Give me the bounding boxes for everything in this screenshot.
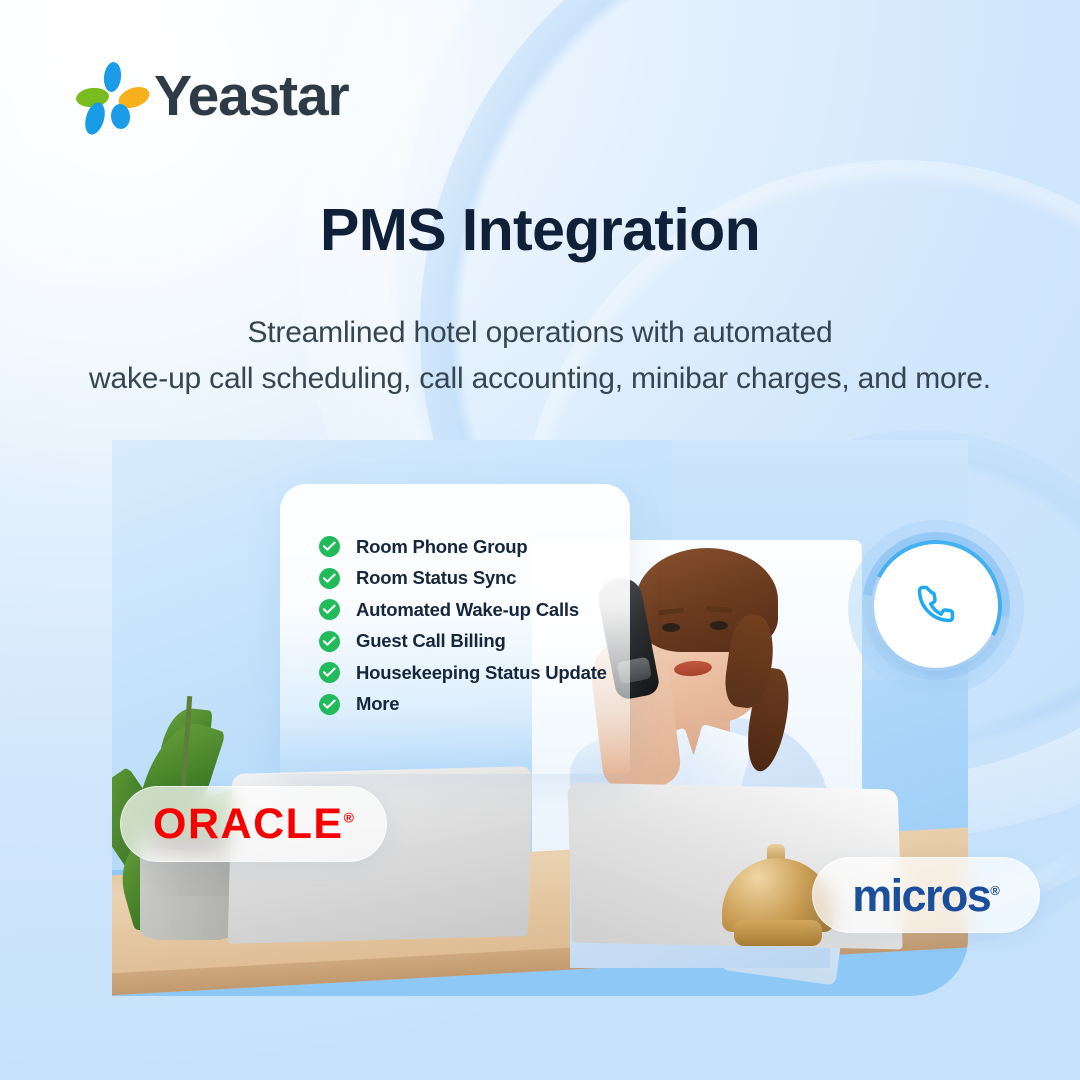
micros-logo-text: micros® — [852, 873, 1000, 918]
oracle-logo-text: ORACLE® — [153, 803, 354, 846]
phone-feature-badge — [848, 520, 1024, 696]
check-circle-icon — [319, 694, 340, 715]
page-title: PMS Integration — [0, 196, 1080, 264]
feature-list-card: Room Phone Group Room Status Sync Automa… — [280, 484, 630, 774]
promo-banner: Yeastar PMS Integration Streamlined hote… — [0, 0, 1080, 1080]
brand-wordmark: Yeastar — [154, 68, 348, 125]
list-item: Guest Call Billing — [319, 626, 618, 658]
feature-label: Guest Call Billing — [356, 630, 506, 652]
feature-label: Room Phone Group — [356, 536, 528, 558]
list-item: Automated Wake-up Calls — [319, 594, 618, 626]
person-eye-right — [710, 621, 728, 630]
check-circle-icon — [319, 568, 340, 589]
feature-label: Room Status Sync — [356, 567, 516, 589]
check-circle-icon — [319, 536, 340, 557]
person-eye-left — [662, 623, 680, 632]
subtitle-line-2: wake-up call scheduling, call accounting… — [0, 356, 1080, 402]
bell-base — [734, 920, 822, 946]
list-item: Room Phone Group — [319, 531, 618, 563]
check-circle-icon — [319, 631, 340, 652]
list-item: Housekeeping Status Update — [319, 657, 618, 689]
feature-label: Automated Wake-up Calls — [356, 599, 579, 621]
partner-badge-micros[interactable]: micros® — [812, 857, 1040, 933]
brand-logo[interactable]: Yeastar — [78, 62, 348, 130]
logo-petal-top — [102, 61, 122, 93]
page-subtitle: Streamlined hotel operations with automa… — [0, 310, 1080, 401]
feature-label: Housekeeping Status Update — [356, 662, 607, 684]
subtitle-line-1: Streamlined hotel operations with automa… — [0, 310, 1080, 356]
list-item: More — [319, 689, 618, 721]
feature-label: More — [356, 693, 399, 715]
check-circle-icon — [319, 599, 340, 620]
phone-handset-icon — [915, 583, 957, 630]
list-item: Room Status Sync — [319, 563, 618, 595]
check-circle-icon — [319, 662, 340, 683]
badge-circle — [874, 544, 998, 668]
partner-badge-oracle[interactable]: ORACLE® — [120, 786, 387, 862]
yeastar-pinwheel-logo — [78, 62, 140, 130]
feature-list: Room Phone Group Room Status Sync Automa… — [319, 531, 618, 720]
